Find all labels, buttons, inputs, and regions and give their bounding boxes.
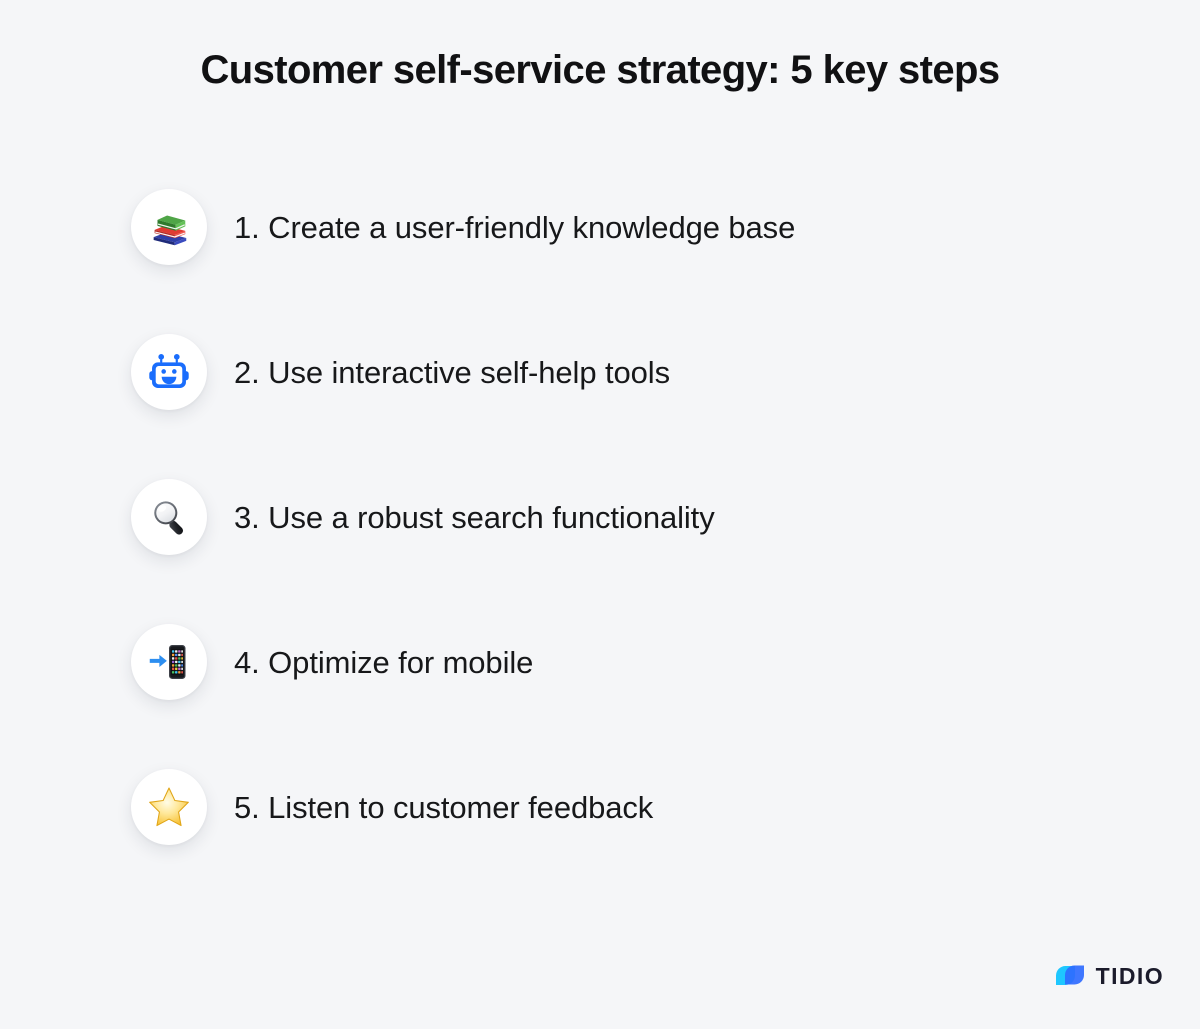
star-icon xyxy=(146,784,192,830)
steps-list: 1. Create a user-friendly knowledge base xyxy=(131,189,1131,845)
mobile-phone-with-arrow-icon xyxy=(147,640,191,684)
infographic-canvas: Customer self-service strategy: 5 key st… xyxy=(0,0,1200,1029)
books-icon xyxy=(146,204,192,250)
tidio-logo-mark xyxy=(1053,959,1087,993)
step-icon-badge xyxy=(131,479,207,555)
step-label: 5. Listen to customer feedback xyxy=(234,792,653,823)
magnifying-glass-icon xyxy=(147,495,191,539)
step-icon-badge xyxy=(131,189,207,265)
list-item: 5. Listen to customer feedback xyxy=(131,769,1131,845)
step-icon-badge xyxy=(131,334,207,410)
step-icon-badge xyxy=(131,769,207,845)
page-title: Customer self-service strategy: 5 key st… xyxy=(0,48,1200,93)
list-item: 3. Use a robust search functionality xyxy=(131,479,1131,555)
step-label: 1. Create a user-friendly knowledge base xyxy=(234,212,795,243)
list-item: 2. Use interactive self-help tools xyxy=(131,334,1131,410)
list-item: 4. Optimize for mobile xyxy=(131,624,1131,700)
step-icon-badge xyxy=(131,624,207,700)
list-item: 1. Create a user-friendly knowledge base xyxy=(131,189,1131,265)
tidio-logo: TIDIO xyxy=(1053,959,1164,993)
step-label: 3. Use a robust search functionality xyxy=(234,502,715,533)
step-label: 2. Use interactive self-help tools xyxy=(234,357,670,388)
tidio-wordmark: TIDIO xyxy=(1096,965,1164,988)
robot-icon xyxy=(147,350,191,394)
step-label: 4. Optimize for mobile xyxy=(234,647,533,678)
